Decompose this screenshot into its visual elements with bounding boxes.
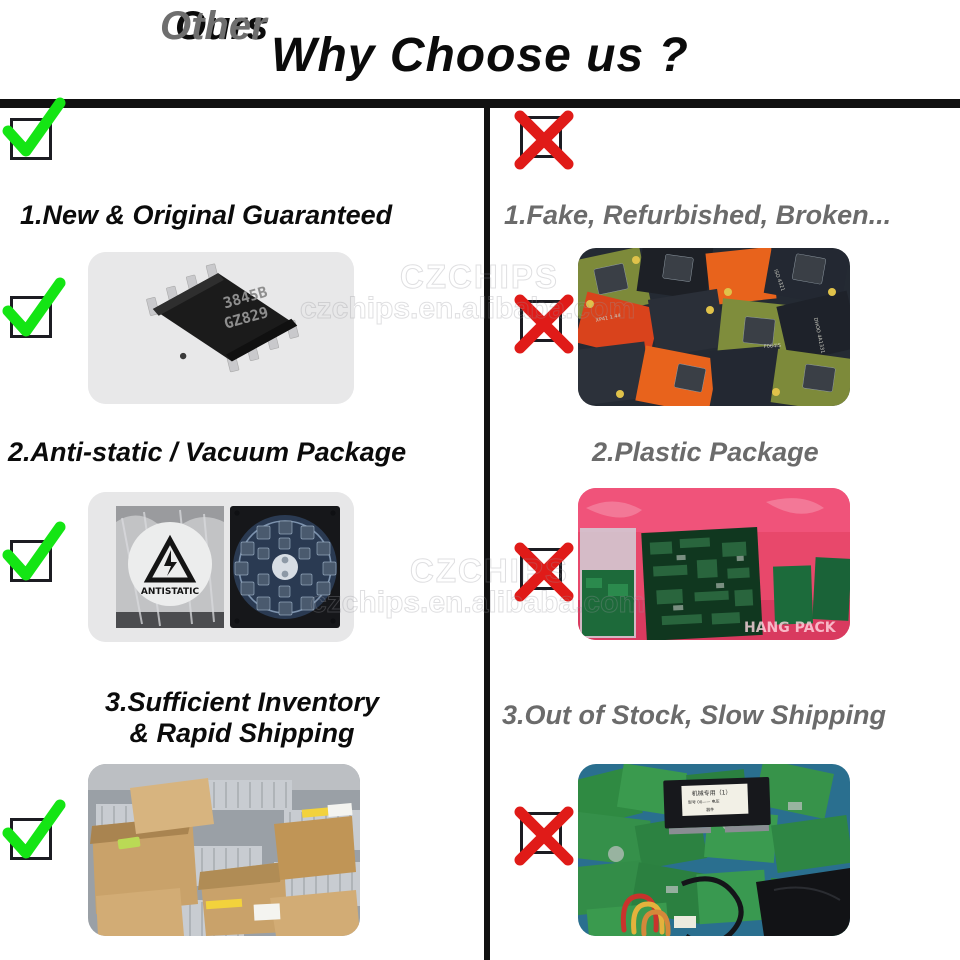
svg-text:HANG PACK: HANG PACK [744,620,837,636]
horizontal-divider [0,99,960,108]
column-header-other: Other [160,4,267,49]
svg-text:机械专用（1）: 机械专用（1） [692,788,732,797]
checkbox-header-ours [10,118,52,160]
photo-plastic-package: HANG PACK [578,488,850,640]
check-mark-row1-ours [10,296,52,338]
svg-text:器件: 器件 [706,806,714,812]
cross-mark-row2-other [520,548,562,590]
row1-heading-other: 1.Fake, Refurbished, Broken... [504,200,891,231]
photo-scrap-cpu-pile: XP41 1 44 ISO 4321 F064IS DHOO 4A1331 [578,248,850,406]
photo-antistatic-package: ANTISTATIC [88,492,354,642]
xbox-header-other [520,116,562,158]
vertical-divider [484,107,490,960]
watermark-brand-top: CZCHIPS [400,258,559,296]
page-title: Why Choose us ? [0,28,960,83]
svg-text:F064IS: F064IS [764,343,781,350]
cross-mark-row3-other [520,812,562,854]
row1-heading-ours: 1.New & Original Guaranteed [20,200,392,231]
check-mark-row2-ours [10,540,52,582]
cross-mark-row1-other [520,300,562,342]
photo-inventory-boxes [88,764,360,936]
photo-chip-original: 3845B GZ829 [88,252,354,404]
row3-heading-other: 3.Out of Stock, Slow Shipping [502,700,886,731]
check-mark-row3-ours [10,818,52,860]
why-choose-us-infographic: Why Choose us ? Ours Other 1.New & Origi… [0,0,960,960]
svg-text:型号 00—— 电压: 型号 00—— 电压 [688,798,720,805]
photo-scrap-pcb-pile: 机械专用（1） 型号 00—— 电压 器件 [578,764,850,936]
row3-heading-ours: 3.Sufficient Inventory & Rapid Shipping [62,687,422,749]
row2-heading-ours: 2.Anti-static / Vacuum Package [8,437,406,468]
row2-heading-other: 2.Plastic Package [592,437,819,468]
svg-text:ANTISTATIC: ANTISTATIC [141,587,200,597]
